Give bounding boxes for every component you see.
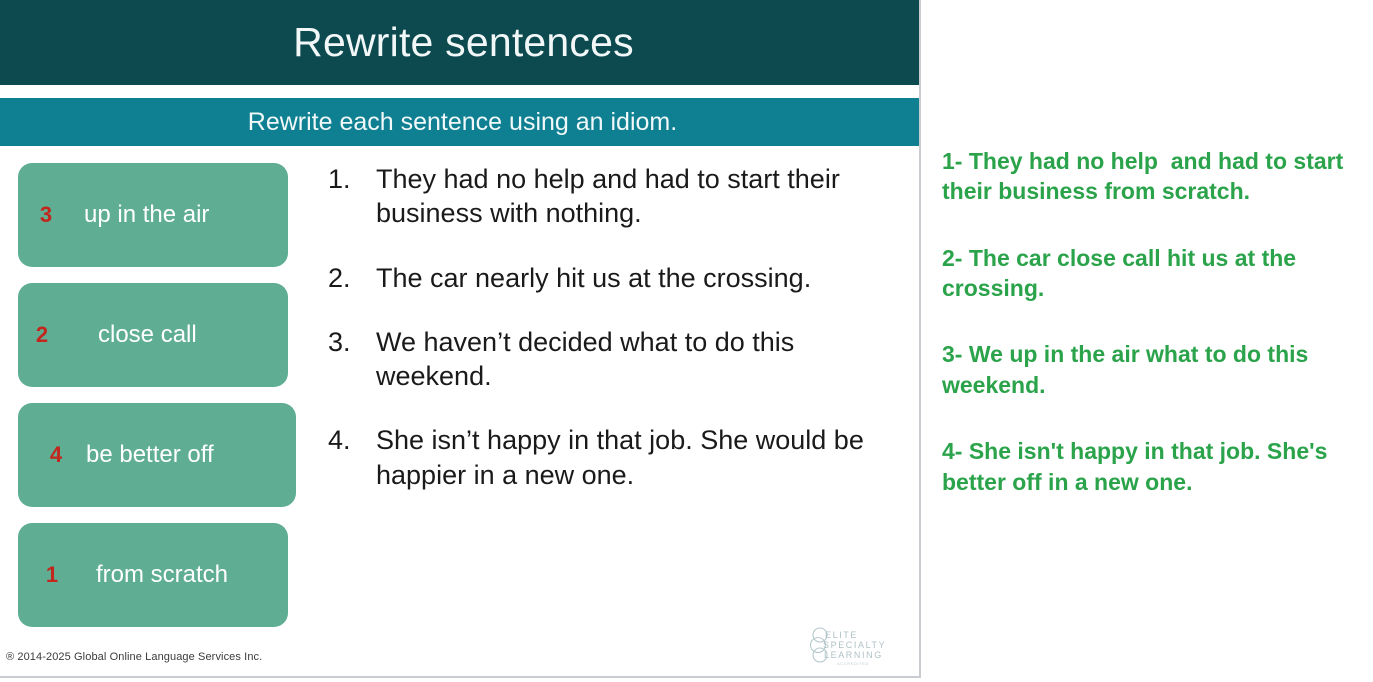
idiom-card-number: 2 bbox=[18, 324, 64, 346]
elite-specialty-learning-logo: ELITE SPECIALTY LEARNING ACCREDITED bbox=[803, 622, 911, 670]
presentation-slide: Rewrite sentences Rewrite each sentence … bbox=[0, 0, 921, 678]
sentence-text: We haven’t decided what to do this weeke… bbox=[376, 325, 908, 394]
sentence-text: They had no help and had to start their … bbox=[376, 162, 908, 231]
idiom-card-number: 3 bbox=[18, 204, 68, 226]
answer-item: 1- They had no help and had to start the… bbox=[942, 146, 1352, 207]
sentence-item: 3. We haven’t decided what to do this we… bbox=[328, 325, 908, 394]
answer-item: 4- She isn't happy in that job. She's be… bbox=[942, 436, 1352, 497]
copyright-notice: ® 2014-2025 Global Online Language Servi… bbox=[6, 651, 262, 663]
idiom-card-number: 4 bbox=[18, 444, 78, 466]
sentence-text: The car nearly hit us at the crossing. bbox=[376, 261, 908, 295]
slide-instruction: Rewrite each sentence using an idiom. bbox=[244, 110, 677, 135]
sentence-number: 2. bbox=[328, 261, 376, 295]
answer-panel: 1- They had no help and had to start the… bbox=[942, 146, 1352, 533]
sentence-item: 2. The car nearly hit us at the crossing… bbox=[328, 261, 908, 295]
sentence-list: 1. They had no help and had to start the… bbox=[328, 162, 908, 522]
idiom-card-label: close call bbox=[64, 323, 288, 347]
idiom-card[interactable]: 4 be better off bbox=[18, 403, 296, 507]
idiom-card-number: 1 bbox=[18, 564, 74, 586]
slide-instruction-bar: Rewrite each sentence using an idiom. bbox=[0, 98, 921, 146]
svg-text:ACCREDITED: ACCREDITED bbox=[837, 661, 869, 666]
idiom-card-label: be better off bbox=[78, 443, 296, 467]
sentence-item: 4. She isn’t happy in that job. She woul… bbox=[328, 423, 908, 492]
answer-item: 2- The car close call hit us at the cros… bbox=[942, 243, 1352, 304]
svg-text:SPECIALTY: SPECIALTY bbox=[823, 640, 886, 650]
idiom-card-list: 3 up in the air 2 close call 4 be better… bbox=[18, 163, 303, 643]
sentence-item: 1. They had no help and had to start the… bbox=[328, 162, 908, 231]
slide-title-bar: Rewrite sentences bbox=[0, 0, 921, 85]
idiom-card-label: up in the air bbox=[68, 203, 288, 227]
answer-item: 3- We up in the air what to do this week… bbox=[942, 339, 1352, 400]
idiom-card[interactable]: 1 from scratch bbox=[18, 523, 288, 627]
sentence-text: She isn’t happy in that job. She would b… bbox=[376, 423, 908, 492]
sentence-number: 3. bbox=[328, 325, 376, 394]
svg-text:ELITE: ELITE bbox=[825, 630, 858, 640]
slide-title: Rewrite sentences bbox=[287, 22, 634, 63]
idiom-card[interactable]: 3 up in the air bbox=[18, 163, 288, 267]
sentence-number: 4. bbox=[328, 423, 376, 492]
idiom-card[interactable]: 2 close call bbox=[18, 283, 288, 387]
sentence-number: 1. bbox=[328, 162, 376, 231]
idiom-card-label: from scratch bbox=[74, 563, 288, 587]
svg-text:LEARNING: LEARNING bbox=[824, 650, 883, 660]
title-separator bbox=[0, 85, 921, 98]
